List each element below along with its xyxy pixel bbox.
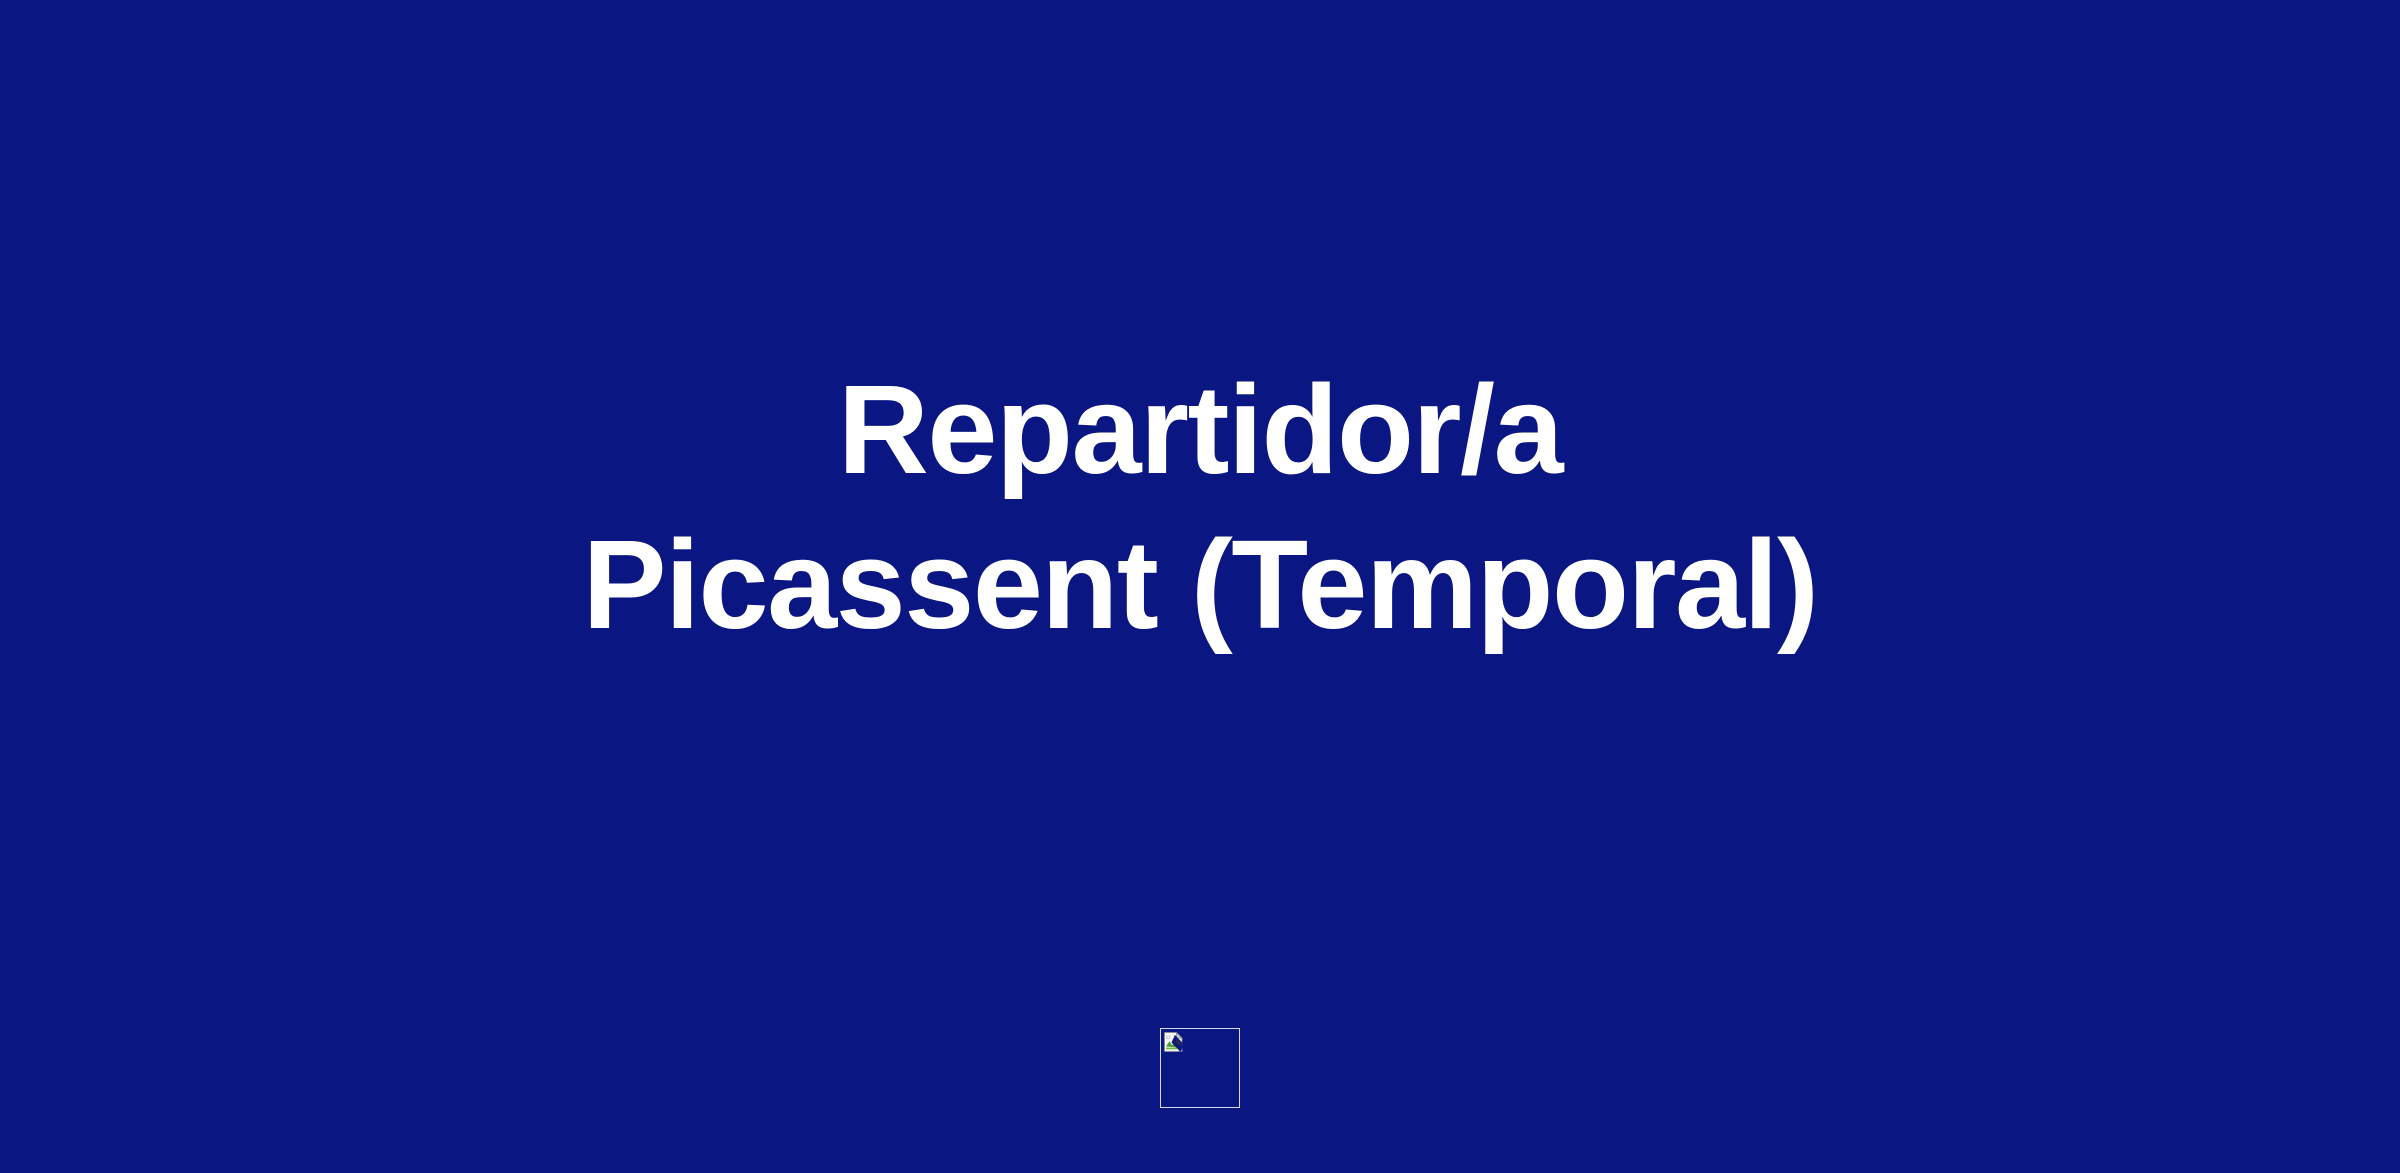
broken-image-icon [1163, 1031, 1185, 1053]
page-title: Repartidor/a Picassent (Temporal) [550, 352, 1850, 662]
hero-image-container [0, 1028, 2400, 1108]
page-root: Repartidor/a Picassent (Temporal) [0, 0, 2400, 1173]
broken-image-placeholder[interactable] [1160, 1028, 1240, 1108]
